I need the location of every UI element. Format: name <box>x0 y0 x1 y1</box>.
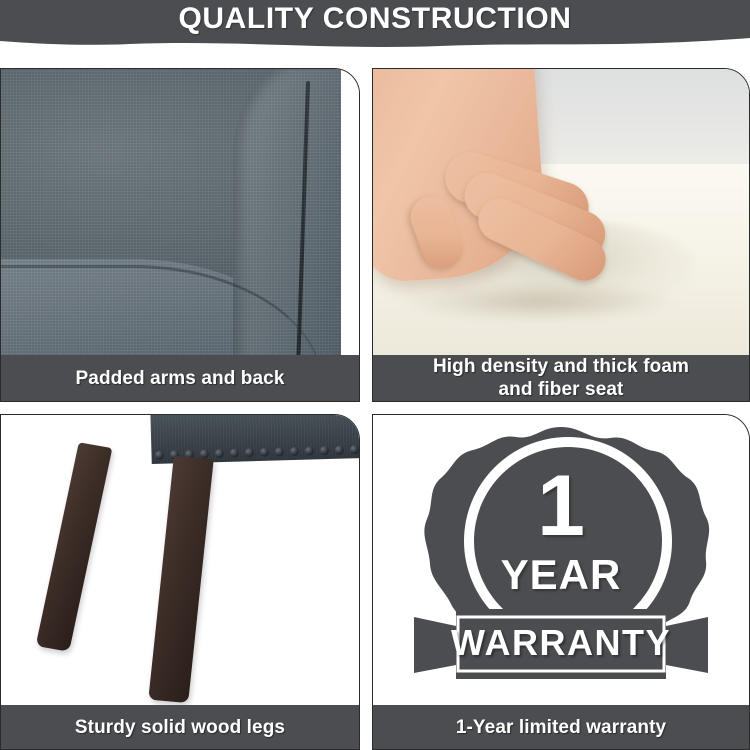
nailhead-stud <box>275 447 284 456</box>
nailhead-stud <box>290 446 299 455</box>
product-feature-collage: QUALITY CONSTRUCTION Padded arms and bac… <box>0 0 750 750</box>
warranty-badge-graphic: 1 YEAR WARRANTY <box>373 415 749 705</box>
nailhead-stud <box>215 448 224 457</box>
caption-padded-arms: Padded arms and back <box>1 355 359 401</box>
header-banner: QUALITY CONSTRUCTION <box>0 0 750 58</box>
nailhead-stud <box>305 446 314 455</box>
feature-panel-wood-legs[interactable]: Sturdy solid wood legs <box>0 414 360 750</box>
caption-warranty: 1-Year limited warranty <box>373 705 749 749</box>
caption-text: High density and thick foam and fiber se… <box>433 355 689 401</box>
nailhead-stud <box>155 450 164 459</box>
nailhead-stud <box>230 448 239 457</box>
caption-text: Sturdy solid wood legs <box>75 716 285 739</box>
nailhead-stud <box>245 448 254 457</box>
caption-text: 1-Year limited warranty <box>456 716 666 739</box>
warranty-period-label: YEAR <box>396 553 726 597</box>
photo-right-margin <box>341 69 359 357</box>
feature-panel-padded-arms[interactable]: Padded arms and back <box>0 68 360 402</box>
page-title: QUALITY CONSTRUCTION <box>0 1 750 37</box>
nailhead-stud <box>200 449 209 458</box>
caption-line-2: and fiber seat <box>499 379 624 400</box>
upholstery-scene <box>1 69 359 357</box>
warranty-scene: 1 YEAR WARRANTY <box>373 415 749 705</box>
nailhead-stud <box>260 447 269 456</box>
caption-line-1: High density and thick foam <box>433 356 689 377</box>
foam-seat-photo <box>373 69 749 357</box>
warranty-ribbon-label: WARRANTY <box>396 624 726 662</box>
nailhead-stud <box>320 445 329 454</box>
wood-leg-back <box>36 442 113 651</box>
feature-panel-foam-seat[interactable]: High density and thick foam and fiber se… <box>372 68 750 402</box>
wood-leg-front <box>148 456 213 703</box>
caption-wood-legs: Sturdy solid wood legs <box>1 705 359 749</box>
nailhead-stud <box>350 445 359 454</box>
foam-scene <box>373 69 749 357</box>
warranty-years-number: 1 <box>396 463 726 549</box>
nailhead-stud <box>335 445 344 454</box>
caption-text: Padded arms and back <box>76 367 285 390</box>
wood-legs-photo <box>1 415 359 705</box>
legs-scene <box>1 415 359 705</box>
hand-pressing-foam <box>373 69 659 314</box>
caption-foam-seat: High density and thick foam and fiber se… <box>373 355 749 401</box>
feature-panel-warranty[interactable]: 1 YEAR WARRANTY 1-Year limited warranty <box>372 414 750 750</box>
padded-arms-photo <box>1 69 359 357</box>
warranty-seal: 1 YEAR WARRANTY <box>396 421 726 699</box>
